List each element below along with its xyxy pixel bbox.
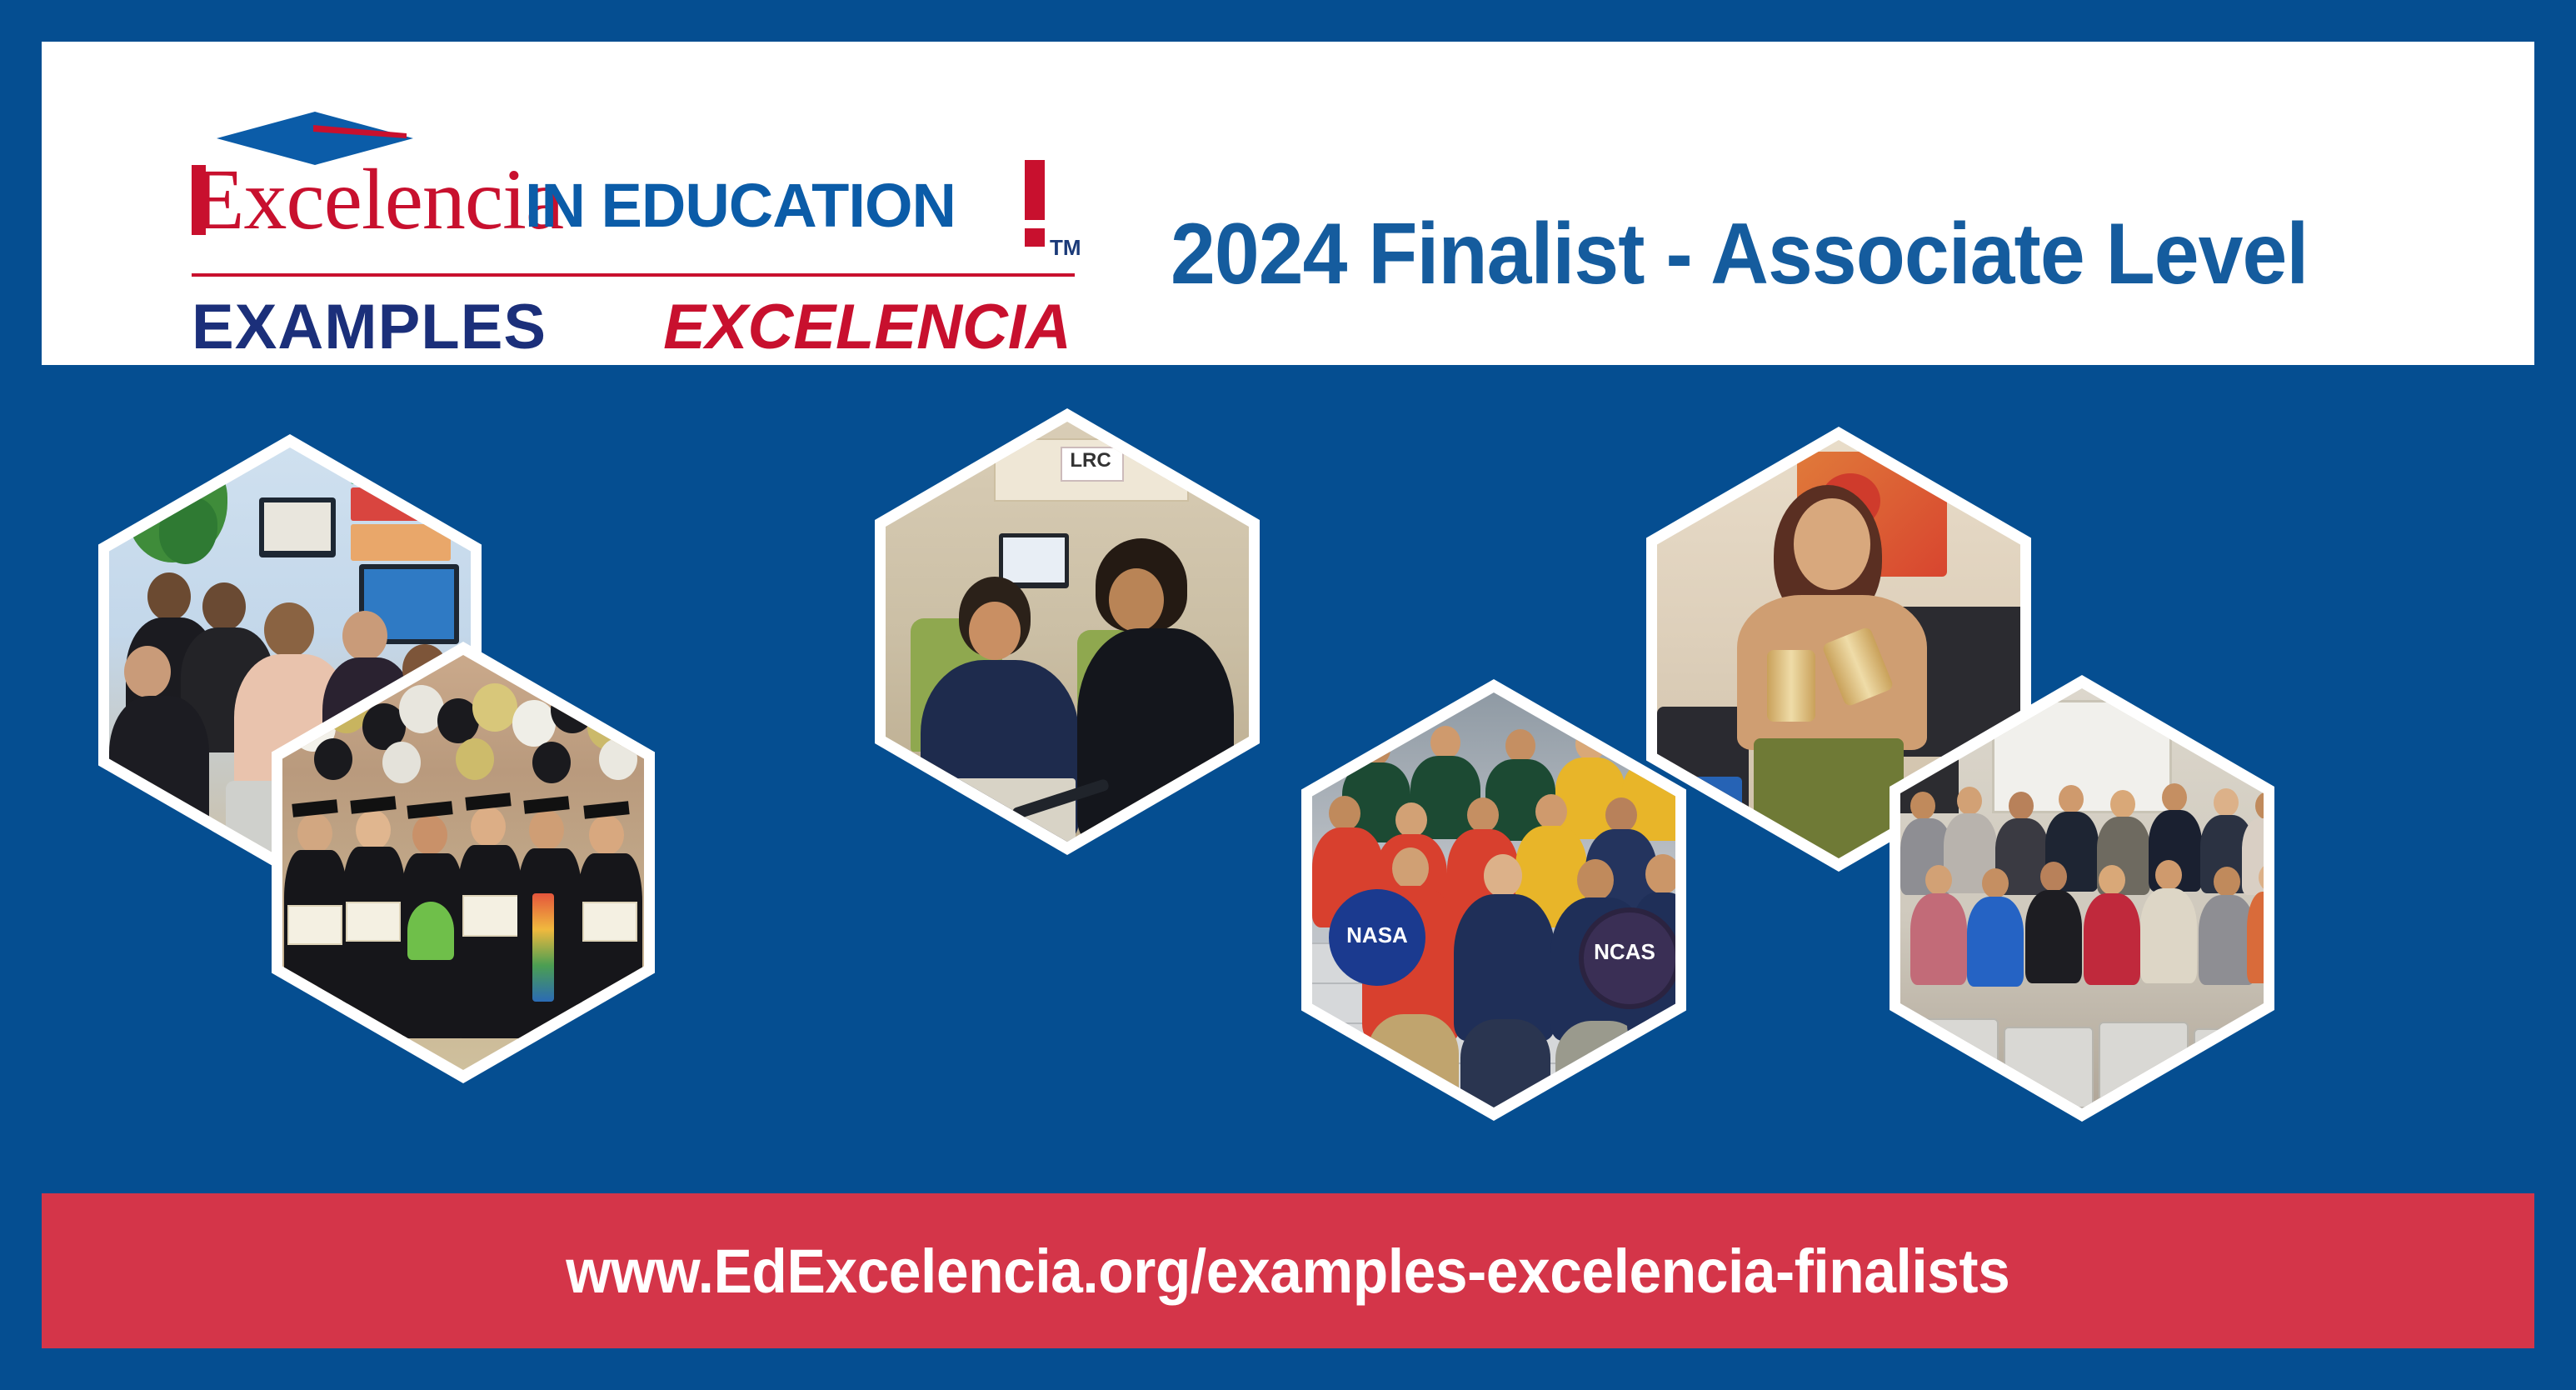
- logo-excelencia-word: Excelencia: [192, 157, 563, 243]
- hex-study-tutoring: LRC: [875, 408, 1260, 855]
- page-title: 2024 Finalist - Associate Level: [1171, 205, 2308, 304]
- hex-nasa-ncas-group: NASA NCAS: [1301, 679, 1686, 1121]
- hexagon-photo-gallery: LRC: [0, 367, 2576, 1192]
- logo-divider-rule: [192, 273, 1075, 277]
- header-band: Excelencia IN EDUCATION TM EXAMPLES of E…: [42, 42, 2534, 365]
- photo-nasa-ncas-group: NASA NCAS: [1312, 692, 1675, 1107]
- trademark-mark: TM: [1050, 235, 1081, 261]
- excelencia-logo: Excelencia IN EDUCATION TM EXAMPLES of E…: [192, 110, 958, 327]
- photo-graduation-ceremony: [282, 655, 644, 1070]
- logo-in-education-text: IN EDUCATION: [525, 170, 956, 241]
- photo-classroom-large-group: [1900, 688, 2264, 1108]
- logo-examples-word: EXAMPLES: [192, 291, 547, 363]
- logo-excelencia-word-2: EXCELENCIA: [663, 291, 1071, 363]
- photo-study-tutoring: LRC: [886, 422, 1249, 842]
- website-url[interactable]: www.EdExcelencia.org/examples-excelencia…: [566, 1236, 2009, 1307]
- star-icon: of: [558, 280, 656, 373]
- footer-url-bar: www.EdExcelencia.org/examples-excelencia…: [42, 1193, 2534, 1348]
- star-of-text: of: [558, 305, 656, 345]
- exclamation-mark-icon: [1025, 160, 1045, 247]
